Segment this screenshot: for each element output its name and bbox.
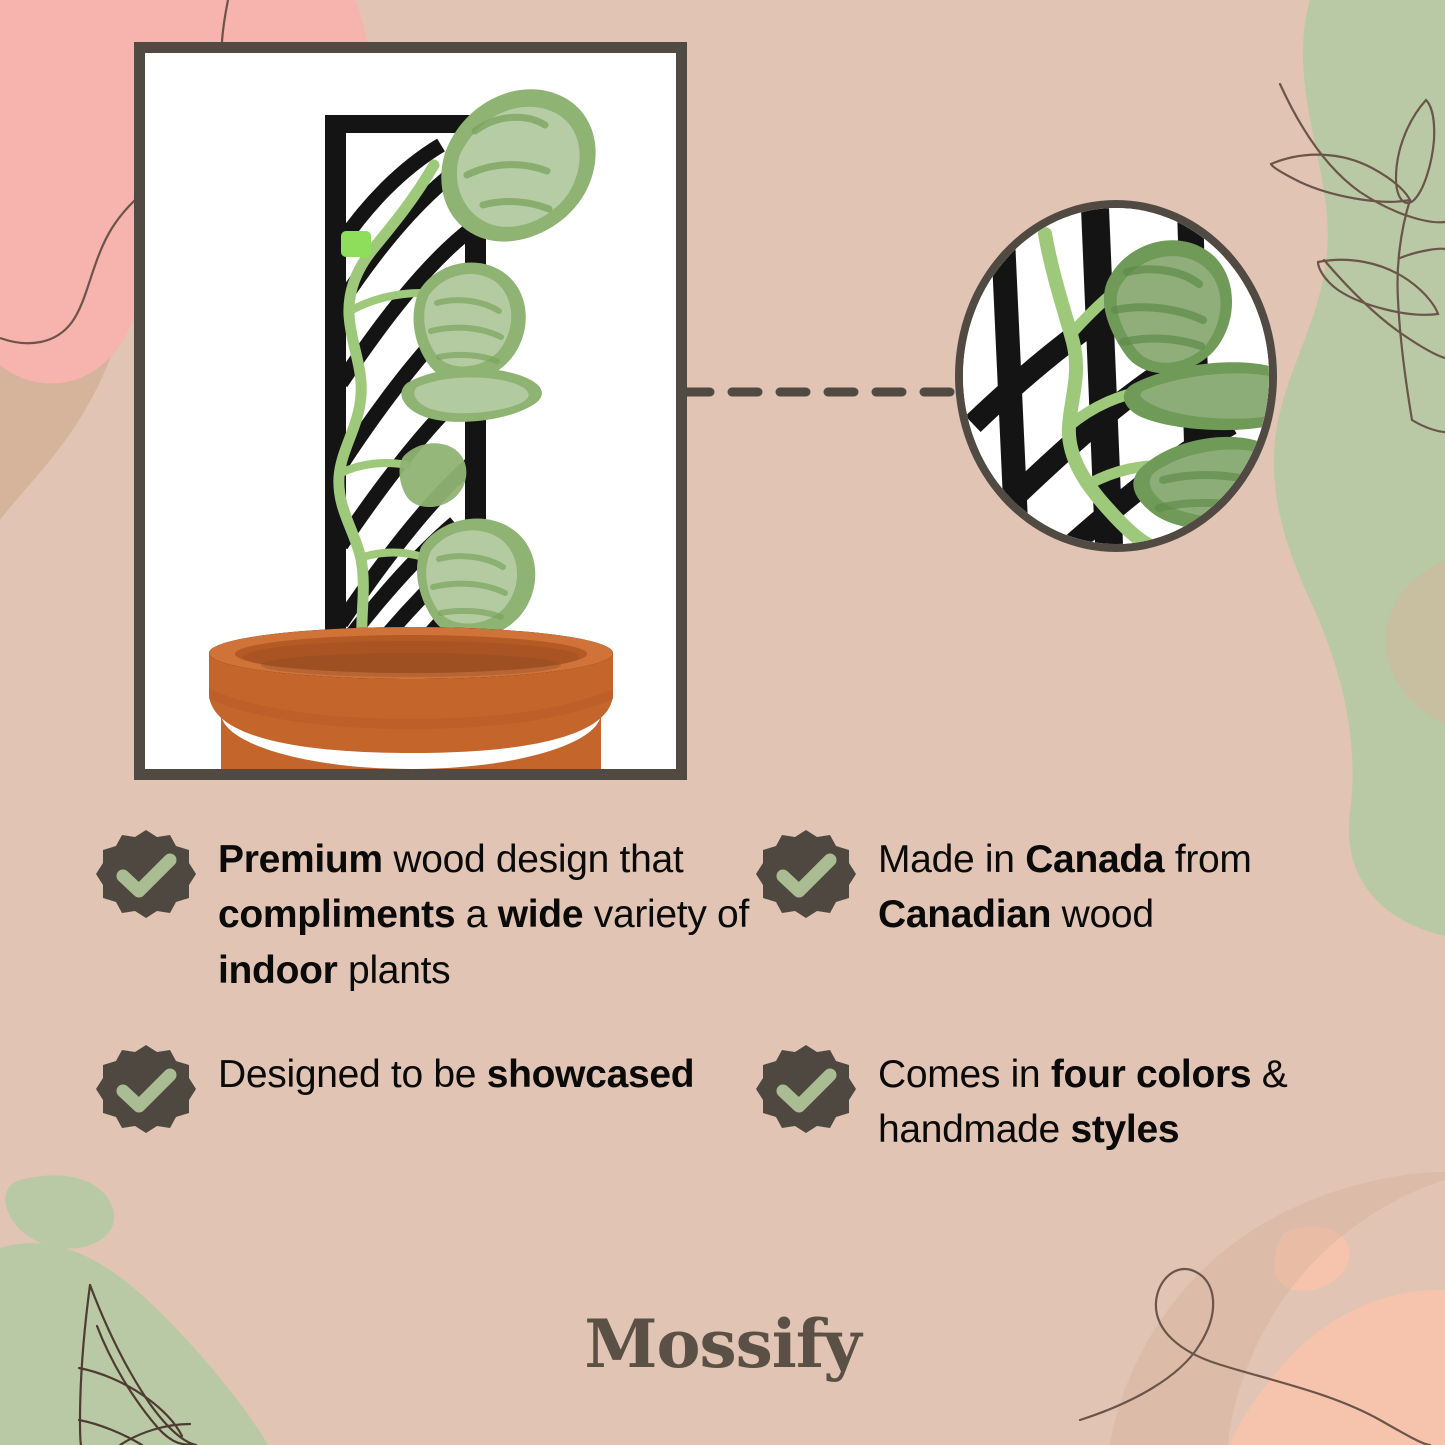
product-photo-frame <box>134 42 687 780</box>
benefit-premium-wood-design: Premium wood design that compliments a w… <box>96 826 756 1041</box>
check-badge-icon <box>756 1043 856 1143</box>
benefit-text: Comes in four colors & handmade styles <box>878 1041 1366 1158</box>
benefits-grid: Premium wood design that compliments a w… <box>96 826 1366 1206</box>
benefit-text: Premium wood design that compliments a w… <box>218 826 756 998</box>
line-art-leaf-top-right <box>1271 84 1445 432</box>
callout-connector-line <box>680 372 970 412</box>
blob-top-right-sage <box>1274 0 1445 936</box>
blob-right-mid-tan <box>1386 560 1445 724</box>
infographic-canvas: Premium wood design that compliments a w… <box>0 0 1445 1445</box>
benefit-text: Designed to be showcased <box>218 1041 694 1102</box>
check-badge-icon <box>756 828 856 928</box>
product-photo <box>145 53 676 769</box>
benefit-made-in-canada: Made in Canada from Canadian wood <box>756 826 1366 1041</box>
check-badge-icon <box>96 1043 196 1143</box>
brand-wordmark: Mossify <box>0 1305 1445 1383</box>
zoom-detail-image <box>963 208 1269 544</box>
benefit-text: Made in Canada from Canadian wood <box>878 826 1366 943</box>
vine-clip <box>341 231 371 257</box>
zoom-detail-callout <box>955 200 1277 552</box>
check-badge-icon <box>96 828 196 928</box>
benefit-four-colors-and-styles: Comes in four colors & handmade styles <box>756 1041 1366 1206</box>
blob-bottom-right-peach-small <box>1274 1227 1349 1291</box>
benefit-designed-to-be-showcased: Designed to be showcased <box>96 1041 756 1206</box>
